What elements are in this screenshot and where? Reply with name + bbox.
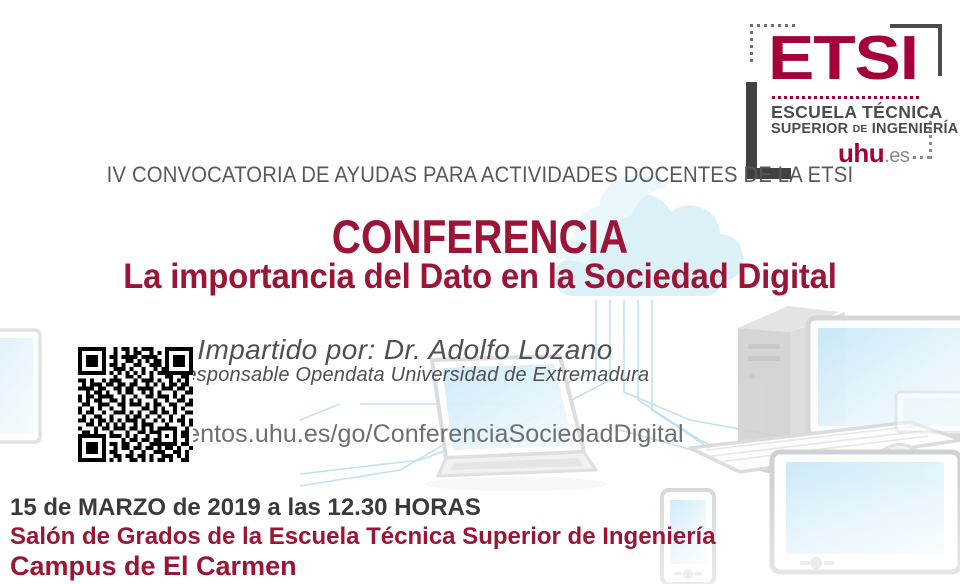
logo-school-line2: SUPERIOR DE INGENIERÍA bbox=[771, 121, 958, 137]
logo-school-line1: ESCUELA TÉCNICA bbox=[771, 102, 943, 123]
logo-school-line2-de: DE bbox=[853, 123, 868, 135]
etsi-logo: ETSI ESCUELA TÉCNICA SUPERIOR DE INGENIE… bbox=[742, 22, 958, 167]
logo-dotted-rule bbox=[772, 96, 920, 99]
connector-lines bbox=[300, 300, 820, 486]
logo-school-line2-pre: SUPERIOR bbox=[771, 121, 853, 137]
mouse bbox=[877, 444, 923, 482]
etsi-wordmark: ETSI bbox=[768, 28, 918, 90]
convocatoria-heading: IV CONVOCATORIA DE AYUDAS PARA ACTIVIDAD… bbox=[38, 162, 921, 188]
footer-block: 15 de MARZO de 2019 a las 12.30 HORAS Sa… bbox=[10, 494, 716, 582]
computer-tower bbox=[738, 306, 845, 478]
qr-code[interactable] bbox=[78, 347, 193, 462]
poster-canvas: ETSI ESCUELA TÉCNICA SUPERIOR DE INGENIE… bbox=[0, 0, 960, 584]
event-campus: Campus de El Carmen bbox=[10, 551, 716, 582]
logo-school-line2-post: INGENIERÍA bbox=[868, 121, 959, 137]
tablet bbox=[772, 452, 960, 572]
page-title: CONFERENCIA bbox=[67, 209, 893, 264]
event-datetime: 15 de MARZO de 2019 a las 12.30 HORAS bbox=[10, 494, 716, 522]
uhu-dotted-accent bbox=[913, 156, 929, 159]
page-subtitle: La importancia del Dato en la Sociedad D… bbox=[29, 257, 931, 297]
logo-dotted-line-left bbox=[750, 24, 753, 66]
event-venue: Salón de Grados de la Escuela Técnica Su… bbox=[10, 522, 716, 551]
